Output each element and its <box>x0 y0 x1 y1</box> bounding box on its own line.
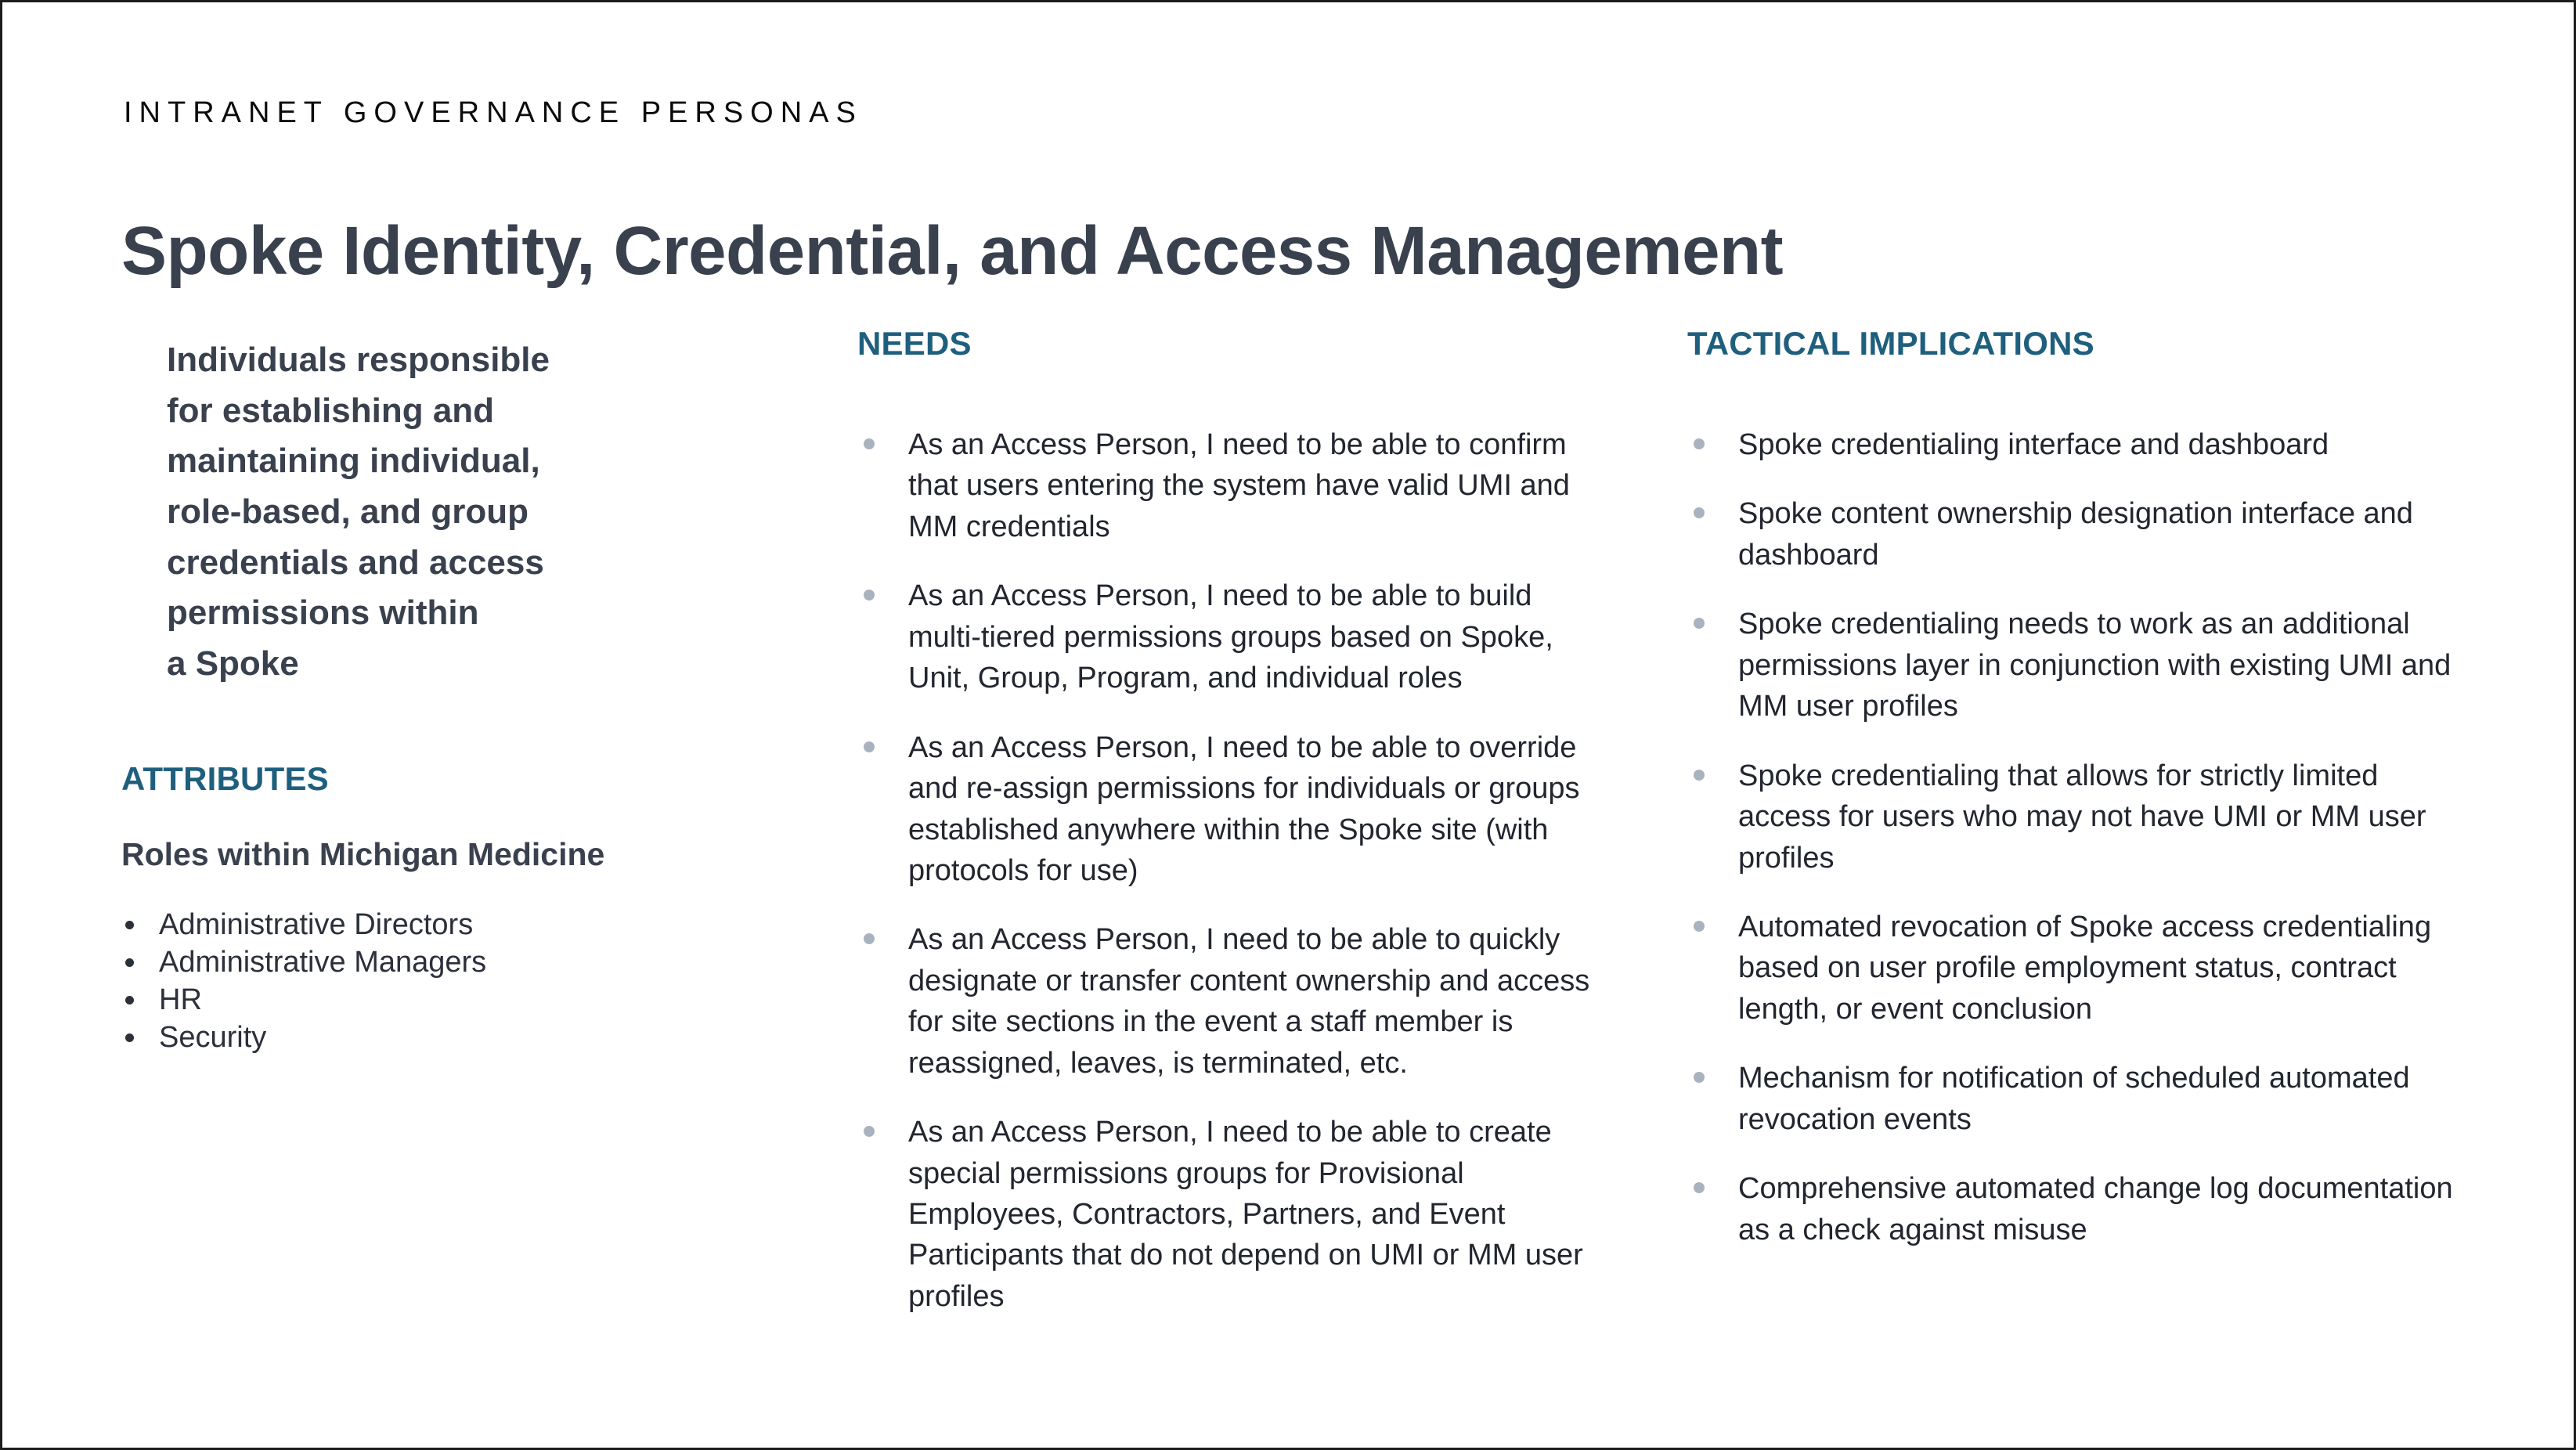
slide-canvas: INTRANET GOVERNANCE PERSONAS Spoke Ident… <box>0 0 2576 1450</box>
needs-heading: NEEDS <box>857 325 1601 362</box>
role-list-item: Administrative Managers <box>121 944 486 982</box>
tactical-implication-list-item-text: Mechanism for notification of scheduled … <box>1738 1058 2478 1140</box>
tactical-implication-list-item: Automated revocation of Spoke access cre… <box>1687 907 2478 1030</box>
bullet-dot-icon <box>1694 1072 1705 1083</box>
tactical-implication-list-item: Mechanism for notification of scheduled … <box>1687 1058 2478 1140</box>
tactical-implication-list-item-text: Spoke credentialing interface and dashbo… <box>1738 424 2478 465</box>
needs-list-item: As an Access Person, I need to be able t… <box>857 919 1601 1084</box>
bullet-dot-icon <box>125 958 134 967</box>
needs-list-item-text: As an Access Person, I need to be able t… <box>908 424 1601 547</box>
bullet-dot-icon <box>1694 618 1705 629</box>
tactical-implication-list-item: Spoke content ownership designation inte… <box>1687 493 2478 575</box>
attributes-heading: ATTRIBUTES <box>121 760 329 798</box>
persona-lead-text: Individuals responsiblefor establishing … <box>167 335 699 690</box>
bullet-dot-icon <box>1694 921 1705 932</box>
tactical-implication-list-item: Spoke credentialing needs to work as an … <box>1687 604 2478 727</box>
bullet-dot-icon <box>1694 438 1705 449</box>
bullet-dot-icon <box>864 590 875 601</box>
eyebrow-label: INTRANET GOVERNANCE PERSONAS <box>124 96 863 130</box>
needs-list-item-text: As an Access Person, I need to be able t… <box>908 727 1601 892</box>
bullet-dot-icon <box>125 996 134 1005</box>
needs-list-item-text: As an Access Person, I need to be able t… <box>908 1112 1601 1317</box>
needs-column: NEEDS As an Access Person, I need to be … <box>857 335 1601 1317</box>
tactical-implication-list-item-text: Comprehensive automated change log docum… <box>1738 1168 2478 1250</box>
bullet-dot-icon <box>1694 1182 1705 1193</box>
needs-list: As an Access Person, I need to be able t… <box>857 424 1601 1317</box>
bullet-dot-icon <box>1694 770 1705 781</box>
role-label: Administrative Directors <box>159 908 473 941</box>
roles-list: Administrative DirectorsAdministrative M… <box>121 907 486 1057</box>
bullet-dot-icon <box>864 1126 875 1137</box>
bullet-dot-icon <box>1694 507 1705 518</box>
needs-list-item-text: As an Access Person, I need to be able t… <box>908 919 1601 1084</box>
needs-list-item: As an Access Person, I need to be able t… <box>857 1112 1601 1317</box>
role-list-item: Administrative Directors <box>121 907 486 944</box>
bullet-dot-icon <box>864 933 875 944</box>
needs-list-item: As an Access Person, I need to be able t… <box>857 575 1601 698</box>
role-label: HR <box>159 983 202 1016</box>
tactical-implication-list-item-text: Automated revocation of Spoke access cre… <box>1738 907 2478 1030</box>
attributes-subheading: Roles within Michigan Medicine <box>121 836 604 873</box>
needs-list-item: As an Access Person, I need to be able t… <box>857 424 1601 547</box>
tactical-implications-heading: TACTICAL IMPLICATIONS <box>1687 325 2478 362</box>
persona-description-column: Individuals responsiblefor establishing … <box>167 335 699 690</box>
bullet-dot-icon <box>125 1033 134 1042</box>
tactical-implication-list-item: Comprehensive automated change log docum… <box>1687 1168 2478 1250</box>
needs-list-item-text: As an Access Person, I need to be able t… <box>908 575 1601 698</box>
role-list-item: Security <box>121 1019 486 1057</box>
tactical-implications-list: Spoke credentialing interface and dashbo… <box>1687 424 2478 1250</box>
tactical-implication-list-item-text: Spoke credentialing that allows for stri… <box>1738 756 2478 878</box>
role-list-item: HR <box>121 982 486 1019</box>
tactical-implications-column: TACTICAL IMPLICATIONS Spoke credentialin… <box>1687 335 2478 1250</box>
tactical-implication-list-item: Spoke credentialing that allows for stri… <box>1687 756 2478 878</box>
role-label: Administrative Managers <box>159 946 486 979</box>
bullet-dot-icon <box>864 438 875 449</box>
bullet-dot-icon <box>125 921 134 929</box>
tactical-implication-list-item: Spoke credentialing interface and dashbo… <box>1687 424 2478 465</box>
bullet-dot-icon <box>864 741 875 752</box>
tactical-implication-list-item-text: Spoke content ownership designation inte… <box>1738 493 2478 575</box>
page-title: Spoke Identity, Credential, and Access M… <box>121 212 1783 290</box>
role-label: Security <box>159 1021 266 1054</box>
needs-list-item: As an Access Person, I need to be able t… <box>857 727 1601 892</box>
tactical-implication-list-item-text: Spoke credentialing needs to work as an … <box>1738 604 2478 727</box>
